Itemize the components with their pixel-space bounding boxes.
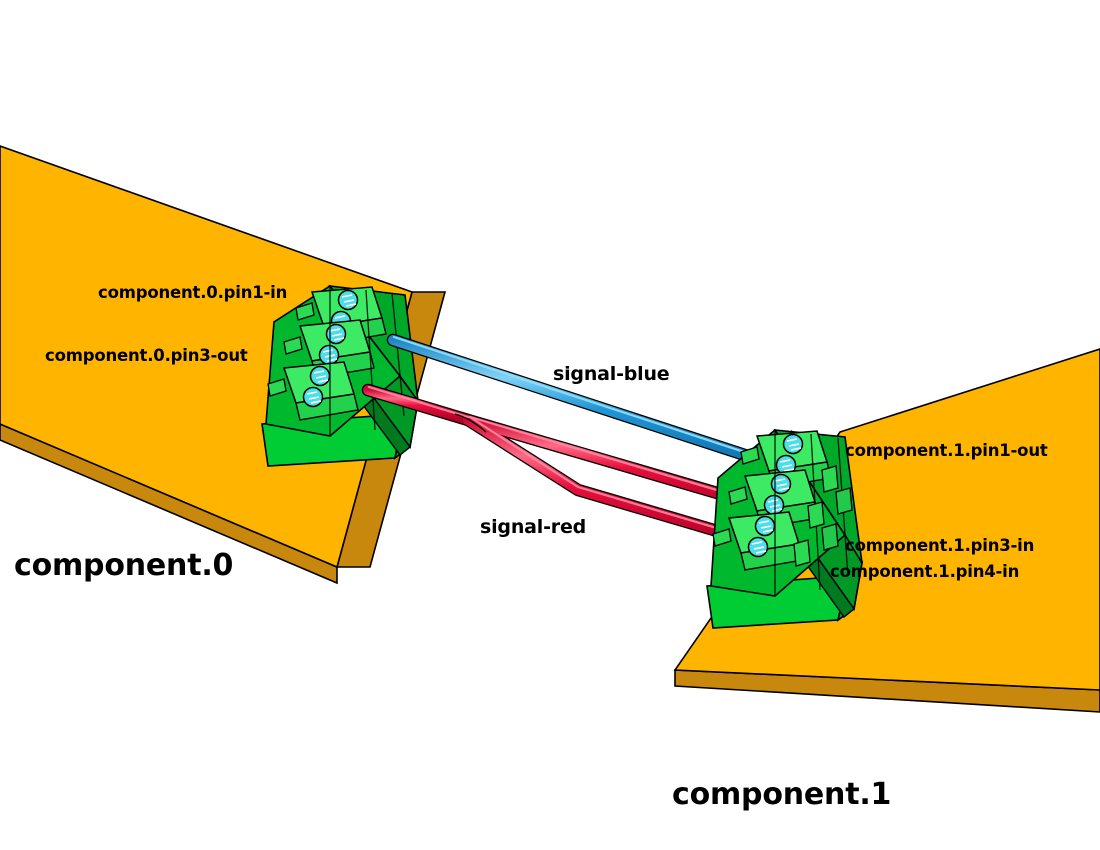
conn0-screw-3a — [311, 367, 330, 386]
pin-label-component-1-pin1-out: component.1.pin1-out — [845, 443, 1048, 460]
connector-component-1[interactable] — [707, 430, 862, 628]
conn0-screw-3b — [304, 388, 323, 407]
conn1-screw-1a — [784, 435, 803, 454]
conn1-screw-2b — [765, 496, 784, 515]
diagram-canvas: component.0.pin1-in component.0.pin3-out… — [0, 0, 1100, 850]
pin-label-component-0-pin1-in: component.0.pin1-in — [98, 285, 287, 302]
pin-label-component-1-pin4-in: component.1.pin4-in — [830, 564, 1019, 581]
pin-label-component-1-pin3-in: component.1.pin3-in — [845, 538, 1034, 555]
signal-label-signal-red: signal-red — [480, 518, 586, 537]
board-label-component-1: component.1 — [672, 780, 891, 810]
pin-label-component-0-pin3-out: component.0.pin3-out — [45, 348, 248, 365]
conn0-screw-1a — [339, 291, 358, 310]
conn0-screw-2b — [320, 346, 339, 365]
board-label-component-0: component.0 — [14, 551, 233, 581]
conn1-screw-3a — [756, 517, 775, 536]
signal-label-signal-blue: signal-blue — [553, 365, 670, 384]
conn1-screw-3b — [749, 538, 768, 557]
scene-svg — [0, 0, 1100, 850]
